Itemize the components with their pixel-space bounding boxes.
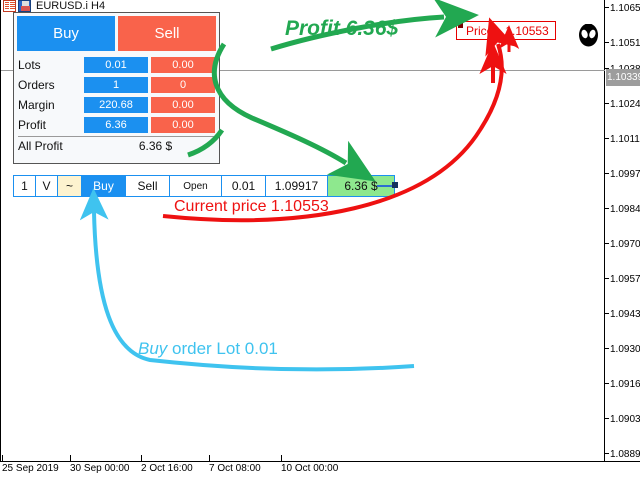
x-tick-mark <box>209 455 210 462</box>
y-tick: 1.09975 <box>605 169 640 181</box>
annotation-buy-order-italic: Buy <box>138 339 167 358</box>
y-tick-label: 1.09300 <box>610 344 640 355</box>
y-tick: 1.09840 <box>605 204 640 216</box>
y-tick: 1.10245 <box>605 99 640 111</box>
green-arrow-to-order-profit <box>214 44 346 163</box>
order-visibility-toggle[interactable]: V <box>36 176 58 196</box>
row-buy-value: 1 <box>84 77 148 93</box>
price-label-caption: Price <box>466 24 493 38</box>
y-tick: 1.09570 <box>605 274 640 286</box>
panel-row-orders: Orders 1 0 <box>18 76 215 94</box>
y-tick: 1.09435 <box>605 309 640 321</box>
chart-icon[interactable] <box>3 0 16 12</box>
buy-button[interactable]: Buy <box>17 16 115 51</box>
alien-icon <box>578 24 599 49</box>
row-label: Lots <box>18 58 84 72</box>
order-buy-button[interactable]: Buy <box>82 176 126 196</box>
y-tick-label: 1.10650 <box>610 3 640 14</box>
annotation-profit: Profit 6.36$ <box>285 17 398 41</box>
x-tick-mark <box>281 455 282 462</box>
y-tick-label: 1.10245 <box>610 99 640 110</box>
order-tilde-button[interactable]: ~ <box>58 176 82 196</box>
order-open-price: 1.09917 <box>266 176 328 196</box>
x-tick-label: 10 Oct 00:00 <box>281 463 338 474</box>
row-sell-value: 0 <box>151 77 215 93</box>
y-tick-label: 1.08895 <box>610 449 640 460</box>
y-tick-label: 1.09705 <box>610 239 640 250</box>
y-tick-label: 1.09030 <box>610 414 640 425</box>
order-strip-handle[interactable] <box>392 182 398 188</box>
row-sell-value: 0.00 <box>151 117 215 133</box>
x-tick-label: 2 Oct 16:00 <box>141 463 193 474</box>
sell-button[interactable]: Sell <box>118 16 216 51</box>
annotation-current-price: Current price 1.10553 <box>174 198 329 216</box>
save-icon[interactable] <box>18 0 31 12</box>
chart-x-axis <box>0 461 640 462</box>
all-profit-value: 6.36 $ <box>96 139 215 153</box>
price-label-box[interactable]: Price 1.10553 <box>456 21 556 40</box>
order-index: 1 <box>14 176 36 196</box>
y-tick: 1.08895 <box>605 449 640 461</box>
x-tick-mark <box>70 455 71 462</box>
y-tick-label: 1.09570 <box>610 274 640 285</box>
y-tick-label: 1.10515 <box>610 38 640 49</box>
y-tick: 1.09030 <box>605 414 640 426</box>
row-sell-value: 0.00 <box>151 97 215 113</box>
y-tick-label: 1.10110 <box>610 134 640 145</box>
y-tick: 1.10650 <box>605 3 640 15</box>
trade-panel: Buy Sell Lots 0.01 0.00 Orders 1 0 Margi… <box>13 12 220 164</box>
order-row[interactable]: 1 V ~ Buy Sell Open 0.01 1.09917 6.36 $ <box>13 175 395 197</box>
row-sell-value: 0.00 <box>151 57 215 73</box>
y-tick-label: 1.09975 <box>610 169 640 180</box>
y-tick-label: 1.09435 <box>610 309 640 320</box>
window-title: EURUSD.i H4 <box>36 0 105 12</box>
panel-row-margin: Margin 220.68 0.00 <box>18 96 215 114</box>
annotation-buy-order: Buy order Lot 0.01 <box>138 339 278 359</box>
panel-row-all-profit: All Profit 6.36 $ <box>18 136 215 154</box>
titlebar-icons <box>3 0 33 12</box>
row-label: Profit <box>18 118 84 132</box>
current-price-axis-label: 1.10339 <box>606 69 640 86</box>
y-tick: 1.10515 <box>605 38 640 50</box>
row-buy-value: 6.36 <box>84 117 148 133</box>
order-sell-button[interactable]: Sell <box>126 176 170 196</box>
panel-row-profit: Profit 6.36 0.00 <box>18 116 215 134</box>
y-tick: 1.09705 <box>605 239 640 251</box>
panel-row-lots: Lots 0.01 0.00 <box>18 56 215 74</box>
row-label: Orders <box>18 78 84 92</box>
order-state: Open <box>170 176 222 196</box>
y-tick-label: 1.09840 <box>610 204 640 215</box>
x-tick-mark <box>141 455 142 462</box>
row-label: Margin <box>18 98 84 112</box>
price-label-anchor <box>458 23 463 28</box>
trading-terminal-screenshot: 1.10650 1.10515 1.10380 1.10339 1.10245 … <box>0 0 640 480</box>
x-tick-mark <box>2 455 3 462</box>
annotation-buy-order-rest: order Lot 0.01 <box>167 339 278 358</box>
all-profit-label: All Profit <box>18 139 96 153</box>
row-buy-value: 0.01 <box>84 57 148 73</box>
panel-rows: Lots 0.01 0.00 Orders 1 0 Margin 220.68 … <box>14 54 219 154</box>
y-tick: 1.09165 <box>605 379 640 391</box>
panel-header: Buy Sell <box>14 13 219 54</box>
x-tick-label: 25 Sep 2019 <box>2 463 59 474</box>
order-lot: 0.01 <box>222 176 266 196</box>
x-tick-label: 30 Sep 00:00 <box>70 463 130 474</box>
price-label-value: 1.10553 <box>505 24 548 38</box>
y-tick: 1.09300 <box>605 344 640 356</box>
x-tick-label: 7 Oct 08:00 <box>209 463 261 474</box>
y-tick: 1.10110 <box>605 134 640 146</box>
order-strip-connector <box>377 185 393 187</box>
y-tick-label: 1.09165 <box>610 379 640 390</box>
row-buy-value: 220.68 <box>84 97 148 113</box>
